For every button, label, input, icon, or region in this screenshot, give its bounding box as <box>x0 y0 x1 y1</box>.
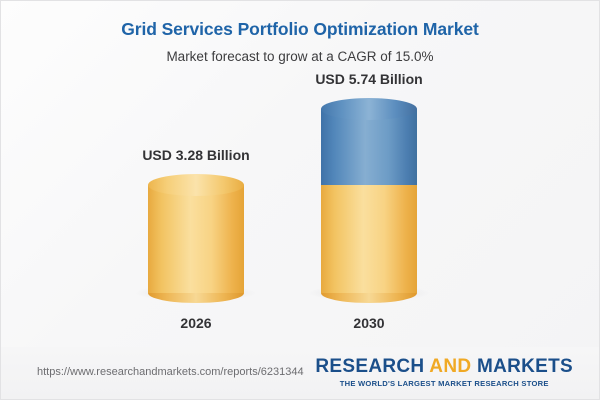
chart-plot-area: USD 3.28 Billion 2026 USD 5.74 Billion <box>1 87 599 339</box>
value-label-2026: USD 3.28 Billion <box>142 147 249 163</box>
research-and-markets-logo[interactable]: RESEARCH AND MARKETS THE WORLD'S LARGEST… <box>315 357 573 388</box>
bar-group-2026: USD 3.28 Billion 2026 <box>121 87 271 339</box>
logo-tagline: THE WORLD'S LARGEST MARKET RESEARCH STOR… <box>315 379 573 388</box>
bar-segment-growth-2030 <box>321 109 417 185</box>
chart-subtitle: Market forecast to grow at a CAGR of 15.… <box>1 49 599 65</box>
logo-markets-text: MARKETS <box>471 356 573 377</box>
report-url[interactable]: https://www.researchandmarkets.com/repor… <box>37 366 304 378</box>
value-label-2030: USD 5.74 Billion <box>315 71 422 87</box>
cylinder-top-cap-2026 <box>148 174 244 196</box>
year-label-2030: 2030 <box>353 315 384 331</box>
bar-group-2030: USD 5.74 Billion 2030 <box>294 87 444 339</box>
cylinder-2026 <box>148 185 244 293</box>
cylinder-2030 <box>321 109 417 293</box>
year-label-2026: 2026 <box>180 315 211 331</box>
logo-research-text: RESEARCH <box>315 356 429 377</box>
bar-segment-base-2030 <box>321 185 417 293</box>
market-forecast-card: Grid Services Portfolio Optimization Mar… <box>0 0 600 400</box>
bar-segment-base-2026 <box>148 185 244 293</box>
card-footer: https://www.researchandmarkets.com/repor… <box>1 347 599 399</box>
chart-header: Grid Services Portfolio Optimization Mar… <box>1 1 599 65</box>
chart-title: Grid Services Portfolio Optimization Mar… <box>1 19 599 40</box>
logo-wordmark: RESEARCH AND MARKETS <box>315 357 573 377</box>
logo-and-text: AND <box>429 356 471 377</box>
cylinder-top-cap-2030 <box>321 98 417 120</box>
